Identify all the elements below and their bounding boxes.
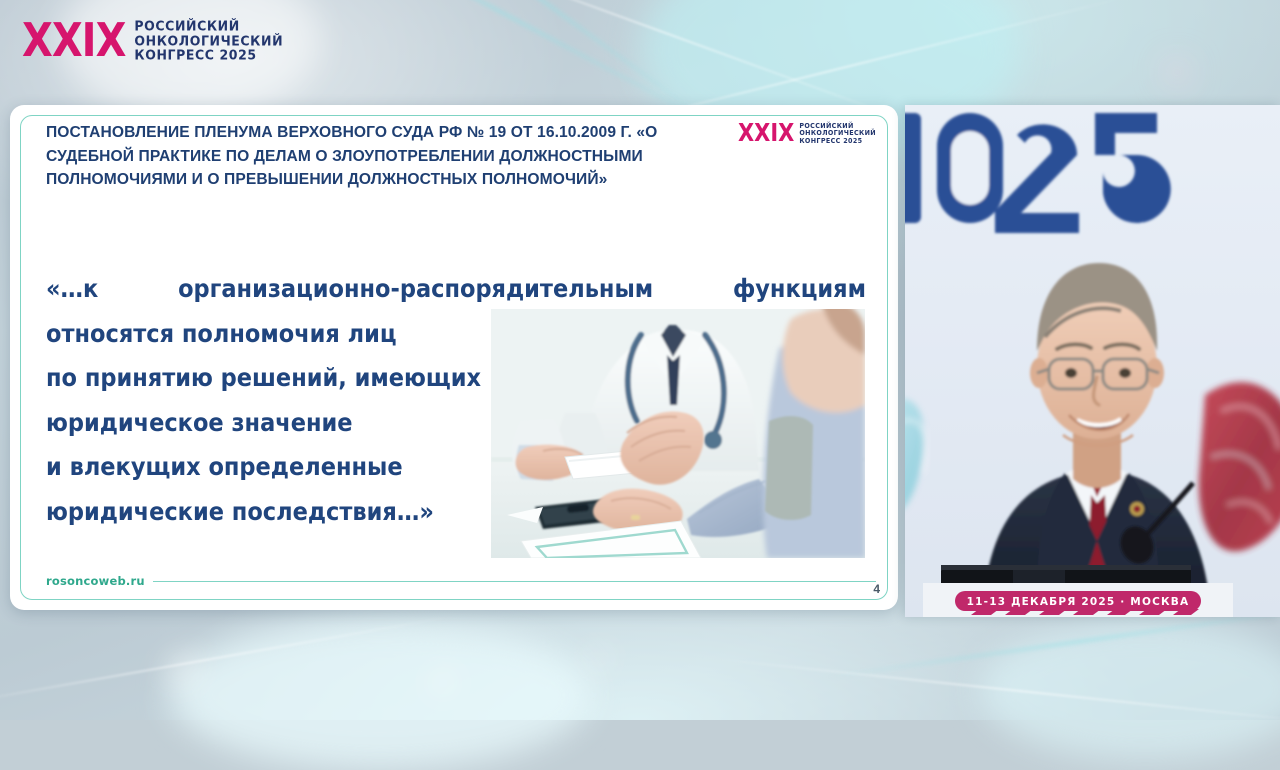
slide-card: ПОСТАНОВЛЕНИЕ ПЛЕНУМА ВЕРХОВНОГО СУДА РФ… [10, 105, 898, 610]
slide-congress-logo-roman: XXIX [738, 121, 794, 146]
quote-line-1: «…к организационно-распорядительным функ… [46, 267, 866, 312]
slide-title: ПОСТАНОВЛЕНИЕ ПЛЕНУМА ВЕРХОВНОГО СУДА РФ… [46, 121, 706, 192]
slide-congress-logo: XXIX РОССИЙСКИЙ ОНКОЛОГИЧЕСКИЙ КОНГРЕСС … [738, 123, 876, 144]
speaker-video-frame: 11-13 ДЕКАБРЯ 2025 · МОСКВА [905, 105, 1280, 617]
congress-logo-text: РОССИЙСКИЙ ОНКОЛОГИЧЕСКИЙ КОНГРЕСС 2025 [134, 20, 283, 62]
background-glow [170, 620, 590, 770]
background-bokeh [590, 650, 608, 668]
video-date-badge-text: 11-13 ДЕКАБРЯ 2025 · МОСКВА [967, 596, 1190, 608]
congress-logo-roman: XXIX [22, 18, 125, 64]
doctor-patient-illustration [491, 309, 865, 558]
slide-footer-url[interactable]: rosoncoweb.ru [46, 574, 145, 588]
congress-logo: XXIX РОССИЙСКИЙ ОНКОЛОГИЧЕСКИЙ КОНГРЕСС … [22, 20, 283, 62]
slide-footer: rosoncoweb.ru [46, 574, 876, 588]
background-bokeh [170, 655, 196, 681]
slide-page-number: 4 [873, 582, 880, 596]
slide-congress-logo-text: РОССИЙСКИЙ ОНКОЛОГИЧЕСКИЙ КОНГРЕСС 2025 [799, 123, 876, 144]
speaker-video-panel[interactable]: 11-13 ДЕКАБРЯ 2025 · МОСКВА [905, 105, 1280, 617]
doctor-patient-photo [491, 309, 865, 558]
background-bokeh [1165, 60, 1189, 84]
congress-logo-line-1: РОССИЙСКИЙ [134, 20, 283, 34]
congress-logo-line-3: КОНГРЕСС 2025 [134, 49, 283, 63]
background-bokeh [432, 672, 454, 694]
slide-footer-rule [153, 581, 876, 582]
slide-congress-logo-line-3: КОНГРЕСС 2025 [799, 137, 876, 144]
